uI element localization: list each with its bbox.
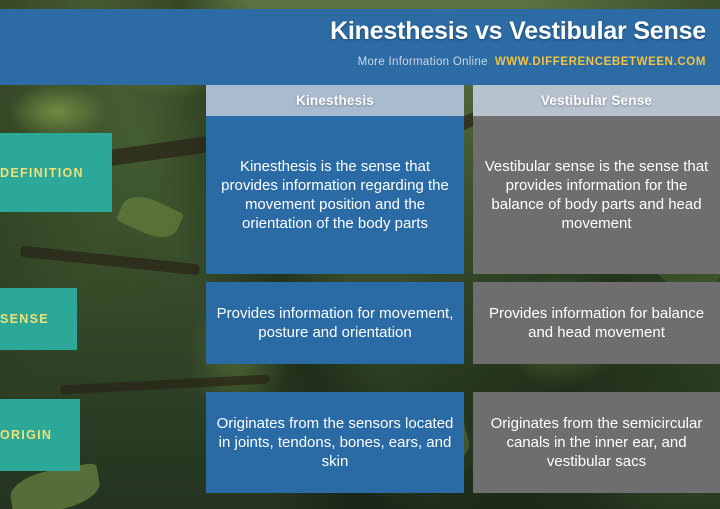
cell-sense-kinesthesis: Provides information for movement, postu…	[206, 282, 464, 364]
cell-text: Provides information for balance and hea…	[483, 304, 710, 342]
branch-decoration	[20, 246, 200, 276]
row-label-text: ORIGIN	[0, 428, 52, 442]
cell-text: Originates from the sensors located in j…	[216, 414, 454, 472]
column-header-vestibular-sense: Vestibular Sense	[473, 85, 720, 116]
site-url: WWW.DIFFERENCEBETWEEN.COM	[495, 56, 706, 68]
row-label-origin: ORIGIN	[0, 399, 80, 471]
row-label-sense: SENSE	[0, 288, 77, 350]
comparison-infographic: Kinesthesis vs Vestibular Sense More Inf…	[0, 0, 720, 509]
cell-origin-kinesthesis: Originates from the sensors located in j…	[206, 392, 464, 493]
subtitle: More Information OnlineWWW.DIFFERENCEBET…	[358, 56, 706, 68]
row-label-text: DEFINITION	[0, 166, 84, 180]
column-header-label: Kinesthesis	[296, 93, 374, 108]
cell-sense-vestibular: Provides information for balance and hea…	[473, 282, 720, 364]
page-title: Kinesthesis vs Vestibular Sense	[330, 17, 706, 46]
cell-text: Originates from the semicircular canals …	[483, 414, 710, 472]
column-header-label: Vestibular Sense	[541, 93, 652, 108]
row-label-text: SENSE	[0, 312, 49, 326]
cell-text: Vestibular sense is the sense that provi…	[483, 157, 710, 234]
cell-text: Kinesthesis is the sense that provides i…	[216, 157, 454, 234]
more-info-label: More Information Online	[358, 56, 488, 68]
cell-text: Provides information for movement, postu…	[216, 304, 454, 342]
row-label-definition: DEFINITION	[0, 133, 112, 212]
cell-definition-kinesthesis: Kinesthesis is the sense that provides i…	[206, 116, 464, 274]
header-band: Kinesthesis vs Vestibular Sense More Inf…	[0, 9, 720, 85]
cell-origin-vestibular: Originates from the semicircular canals …	[473, 392, 720, 493]
column-header-kinesthesis: Kinesthesis	[206, 85, 464, 116]
leaf-decoration	[116, 189, 185, 245]
cell-definition-vestibular: Vestibular sense is the sense that provi…	[473, 116, 720, 274]
